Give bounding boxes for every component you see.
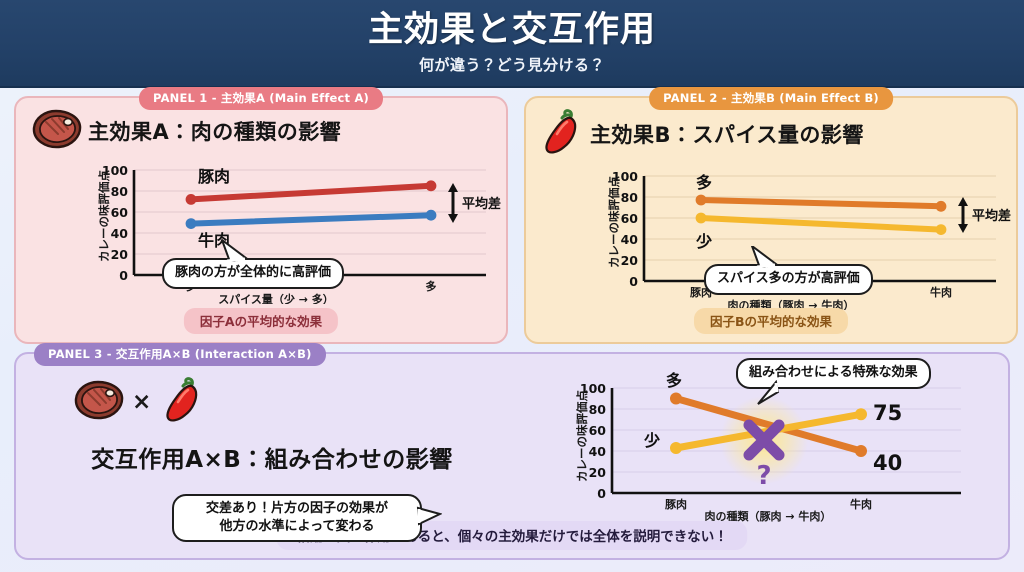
panel-2-footer-pill: 因子Bの平均的な効果: [694, 308, 848, 334]
panel-1-annotation: 平均差: [462, 196, 501, 212]
panel-3-icon-group: ×: [70, 376, 502, 428]
panel-3-y-axis-label: カレーの味評価点: [575, 390, 589, 482]
panel-2-xtick-1: 牛肉: [930, 285, 952, 299]
chili-icon: [159, 376, 205, 428]
panel-3-question-mark: ?: [756, 461, 771, 491]
panel-2-title: 主効果B：スパイス量の影響: [590, 119, 864, 149]
svg-text:20: 20: [111, 247, 129, 262]
panel-3-callout-left-line2: 他方の水準によって変わる: [185, 518, 409, 536]
panel-main-effect-b: PANEL 2 - 主効果B (Main Effect B) 主効果B：スパイス…: [524, 96, 1018, 344]
page-title: 主効果と交互作用: [368, 11, 656, 50]
svg-text:60: 60: [589, 423, 607, 438]
mean-difference-arrow: [958, 197, 968, 233]
svg-text:40: 40: [111, 226, 129, 241]
chili-icon: [538, 108, 584, 160]
svg-text:20: 20: [621, 253, 639, 268]
panel-3-xtick-1: 牛肉: [850, 497, 872, 511]
panel-3-series-label-low: 少: [644, 431, 660, 450]
panel-2-annotation: 平均差: [972, 208, 1011, 224]
mean-difference-arrow: [448, 183, 458, 223]
panel-3-callout-left: 交差あり！片方の因子の効果が 他方の水準によって変わる: [172, 494, 422, 542]
panel-1-series-label-pork: 豚肉: [198, 167, 230, 186]
steak-icon: [70, 379, 124, 425]
panel-3-xtick-0: 豚肉: [665, 497, 687, 511]
svg-text:80: 80: [621, 190, 639, 205]
panel-main-effect-a: PANEL 1 - 主効果A (Main Effect A) 主効果A：肉の種類…: [14, 96, 508, 344]
panel-2-callout: スパイス多の方が高評価: [704, 264, 873, 295]
panel-1-badge: PANEL 1 - 主効果A (Main Effect A): [139, 87, 383, 110]
svg-text:40: 40: [589, 444, 607, 459]
page-subtitle: 何が違う？どう見分ける？: [419, 54, 605, 75]
panel-3-value-label-75: 75: [873, 401, 902, 425]
top-panels-row: PANEL 1 - 主効果A (Main Effect A) 主効果A：肉の種類…: [0, 96, 1024, 344]
panel-1-xtick-1: 多: [426, 279, 437, 293]
svg-text:0: 0: [629, 274, 638, 289]
panel-2-chart: 100 80 60 40 20 0 カレーの味評価点 多 少: [526, 160, 1016, 310]
svg-text:40: 40: [621, 232, 639, 247]
panel-3-series-label-high: 多: [666, 371, 682, 390]
svg-text:80: 80: [111, 184, 129, 199]
panel-1-x-axis-label: スパイス量（少 → 多）: [218, 292, 334, 304]
panel-3-operator: ×: [132, 389, 151, 415]
panel-3-callout-left-line1: 交差あり！片方の因子の効果が: [185, 500, 409, 518]
steak-icon: [28, 108, 82, 154]
panel-2-series-label-low: 少: [696, 232, 712, 251]
panel-1-y-axis-label: カレーの味評価点: [97, 170, 111, 262]
panel-1-chart: 100 80 60 40 20 0 カレーの味評価点 豚肉 牛肉: [16, 154, 506, 304]
panel-2-badge: PANEL 2 - 主効果B (Main Effect B): [649, 87, 893, 110]
svg-text:60: 60: [621, 211, 639, 226]
svg-text:20: 20: [589, 465, 607, 480]
panel-3-title: 交互作用A×B：組み合わせの影響: [42, 440, 502, 474]
panel-3-value-label-40: 40: [873, 451, 902, 475]
panel-3-chart: 100 80 60 40 20 0 カレーの味評価点 多 少: [516, 362, 996, 522]
panel-2-series-label-high: 多: [696, 173, 712, 192]
svg-text:0: 0: [597, 486, 606, 501]
panel-3-left-column: × 交互作用A×B：組み合わせの影響 交差あり！片方の因子の効果が 他方の水準に…: [42, 376, 502, 474]
panel-3-callout-right: 組み合わせによる特殊な効果: [736, 358, 931, 389]
svg-text:0: 0: [119, 268, 128, 283]
panel-2-y-axis-label: カレーの味評価点: [607, 176, 621, 268]
panel-1-footer-pill: 因子Aの平均的な効果: [184, 308, 338, 334]
page-header: 主効果と交互作用 何が違う？どう見分ける？: [0, 0, 1024, 88]
panel-1-title: 主効果A：肉の種類の影響: [88, 116, 341, 146]
panel-3-badge: PANEL 3 - 交互作用A×B (Interaction A×B): [34, 343, 326, 366]
svg-text:60: 60: [111, 205, 129, 220]
svg-text:80: 80: [589, 402, 607, 417]
panel-interaction-ab: PANEL 3 - 交互作用A×B (Interaction A×B) ×: [14, 352, 1010, 560]
panel-1-callout: 豚肉の方が全体的に高評価: [162, 258, 344, 289]
